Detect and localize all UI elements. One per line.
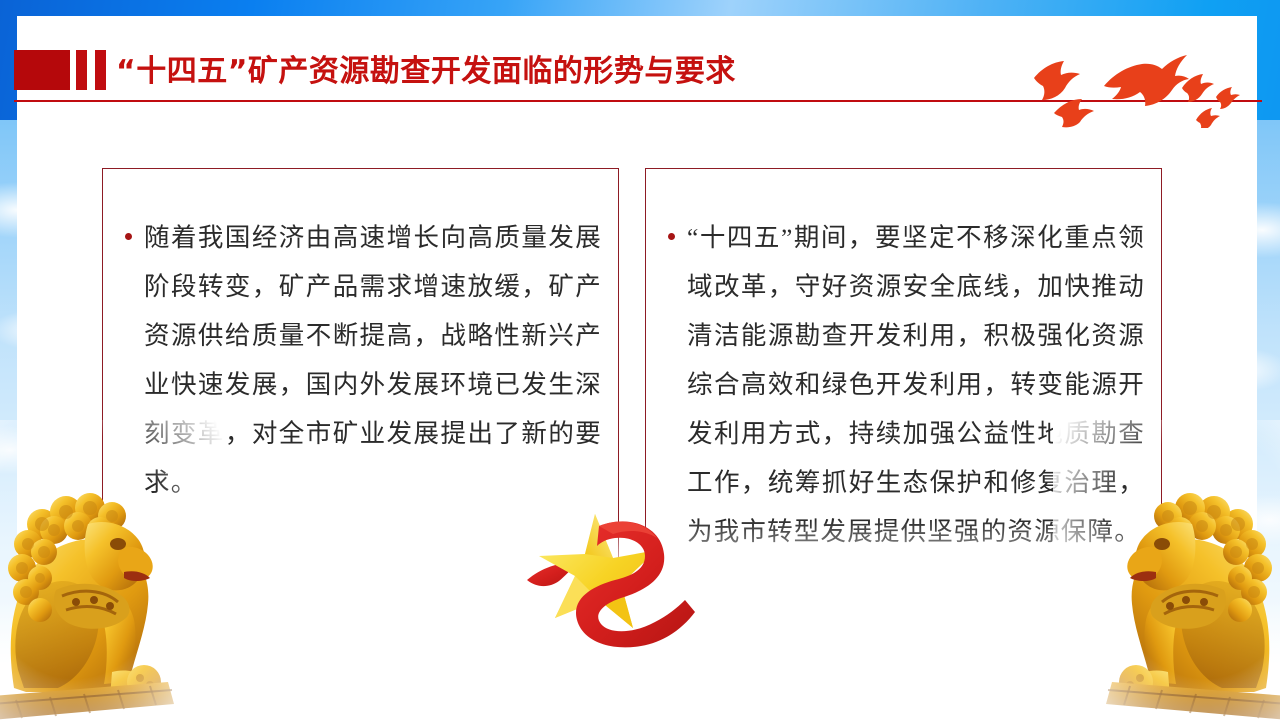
guardian-lion-left-icon <box>0 420 227 720</box>
star-ribbon-emblem-icon <box>525 492 710 657</box>
bullet-dot-icon <box>668 233 675 240</box>
page-title: “十四五”矿产资源勘查开发面临的形势与要求 <box>116 44 736 100</box>
title-red-block-icon <box>14 50 70 90</box>
guardian-lion-right-icon <box>1053 420 1280 720</box>
title-red-bar-two-icon <box>95 50 106 90</box>
flying-birds-icon <box>1020 42 1250 128</box>
bullet-dot-icon <box>125 233 132 240</box>
slide-root: “十四五”矿产资源勘查开发面临的形势与要求 随着我 <box>0 0 1280 720</box>
title-red-bar-one-icon <box>76 50 87 90</box>
